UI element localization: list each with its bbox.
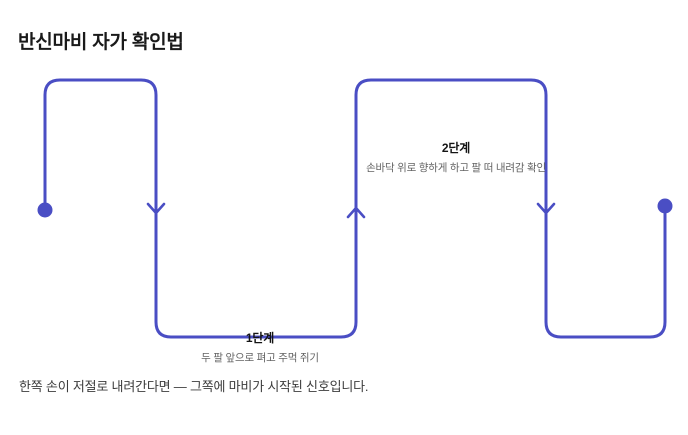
end-dot-marker xyxy=(658,199,673,214)
connector-segment-4 xyxy=(546,210,665,337)
step-1-description: 두 팔 앞으로 펴고 주먹 쥐기 xyxy=(180,351,340,365)
start-dot-marker xyxy=(38,203,53,218)
connector-segment-2 xyxy=(156,222,356,337)
connector-segment-1 xyxy=(45,80,156,227)
footer-caption: 한쪽 손이 저절로 내려간다면 — 그쪽에 마비가 시작된 신호입니다. xyxy=(19,376,368,395)
step-1-label: 1단계 두 팔 앞으로 펴고 주먹 쥐기 xyxy=(180,330,340,365)
flow-path-svg xyxy=(0,52,688,362)
flow-diagram: 1단계 두 팔 앞으로 펴고 주먹 쥐기 2단계 손바닥 위로 향하게 하고 팔… xyxy=(0,52,688,362)
step-2-description: 손바닥 위로 향하게 하고 팔 떠 내려감 확인 xyxy=(366,161,546,175)
step-2-label: 2단계 손바닥 위로 향하게 하고 팔 떠 내려감 확인 xyxy=(366,140,546,175)
page-title: 반신마비 자가 확인법 xyxy=(18,27,184,54)
arrow-marker-group xyxy=(148,204,554,217)
page-root: 반신마비 자가 확인법 xyxy=(0,0,688,435)
step-1-title: 1단계 xyxy=(180,330,340,346)
step-2-title: 2단계 xyxy=(366,140,546,156)
